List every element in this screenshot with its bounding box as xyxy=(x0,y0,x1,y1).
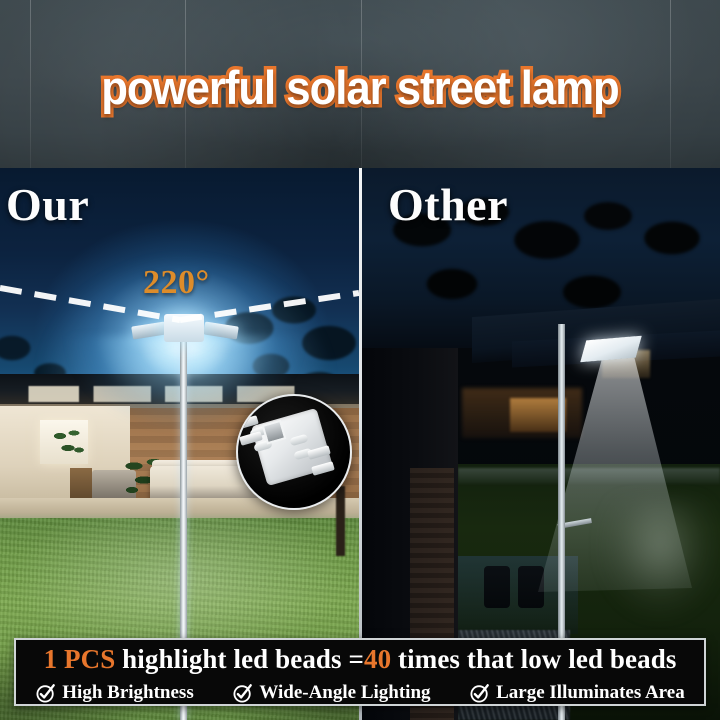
led-bead-icon xyxy=(236,394,352,510)
product-poster: powerful solar street lamp xyxy=(0,0,720,720)
claim-prefix: 1 PCS xyxy=(44,644,116,674)
garden-path xyxy=(458,468,720,484)
check-circle-icon xyxy=(35,682,57,704)
feature-label: High Brightness xyxy=(62,682,193,704)
feature-label: Large Illuminates Area xyxy=(496,682,685,704)
feature-item: Large Illuminates Area xyxy=(469,682,685,704)
patio-chair xyxy=(518,566,544,608)
claim-suffix: times that low led beads xyxy=(391,644,676,674)
check-circle-icon xyxy=(232,682,254,704)
claim-mid: highlight led beads = xyxy=(115,644,364,674)
beam-angle-label: 220° xyxy=(143,264,210,302)
plant-icon xyxy=(52,426,86,462)
claim-text: 1 PCS highlight led beads =40 times that… xyxy=(16,644,704,675)
light-pool xyxy=(600,498,720,618)
page-title: powerful solar street lamp xyxy=(25,62,695,114)
check-circle-icon xyxy=(469,682,491,704)
feature-item: Wide-Angle Lighting xyxy=(232,682,430,704)
patio-chair xyxy=(484,566,510,608)
panel-label-other: Other xyxy=(388,178,508,231)
feature-list: High Brightness Wide-Angle Lighting Larg… xyxy=(16,680,704,706)
feature-item: High Brightness xyxy=(35,682,193,704)
claim-number: 40 xyxy=(364,644,391,674)
street-lamp-icon xyxy=(164,314,204,342)
panel-label-our: Our xyxy=(6,178,89,231)
feature-label: Wide-Angle Lighting xyxy=(259,682,430,704)
claim-banner: 1 PCS highlight led beads =40 times that… xyxy=(14,638,706,706)
